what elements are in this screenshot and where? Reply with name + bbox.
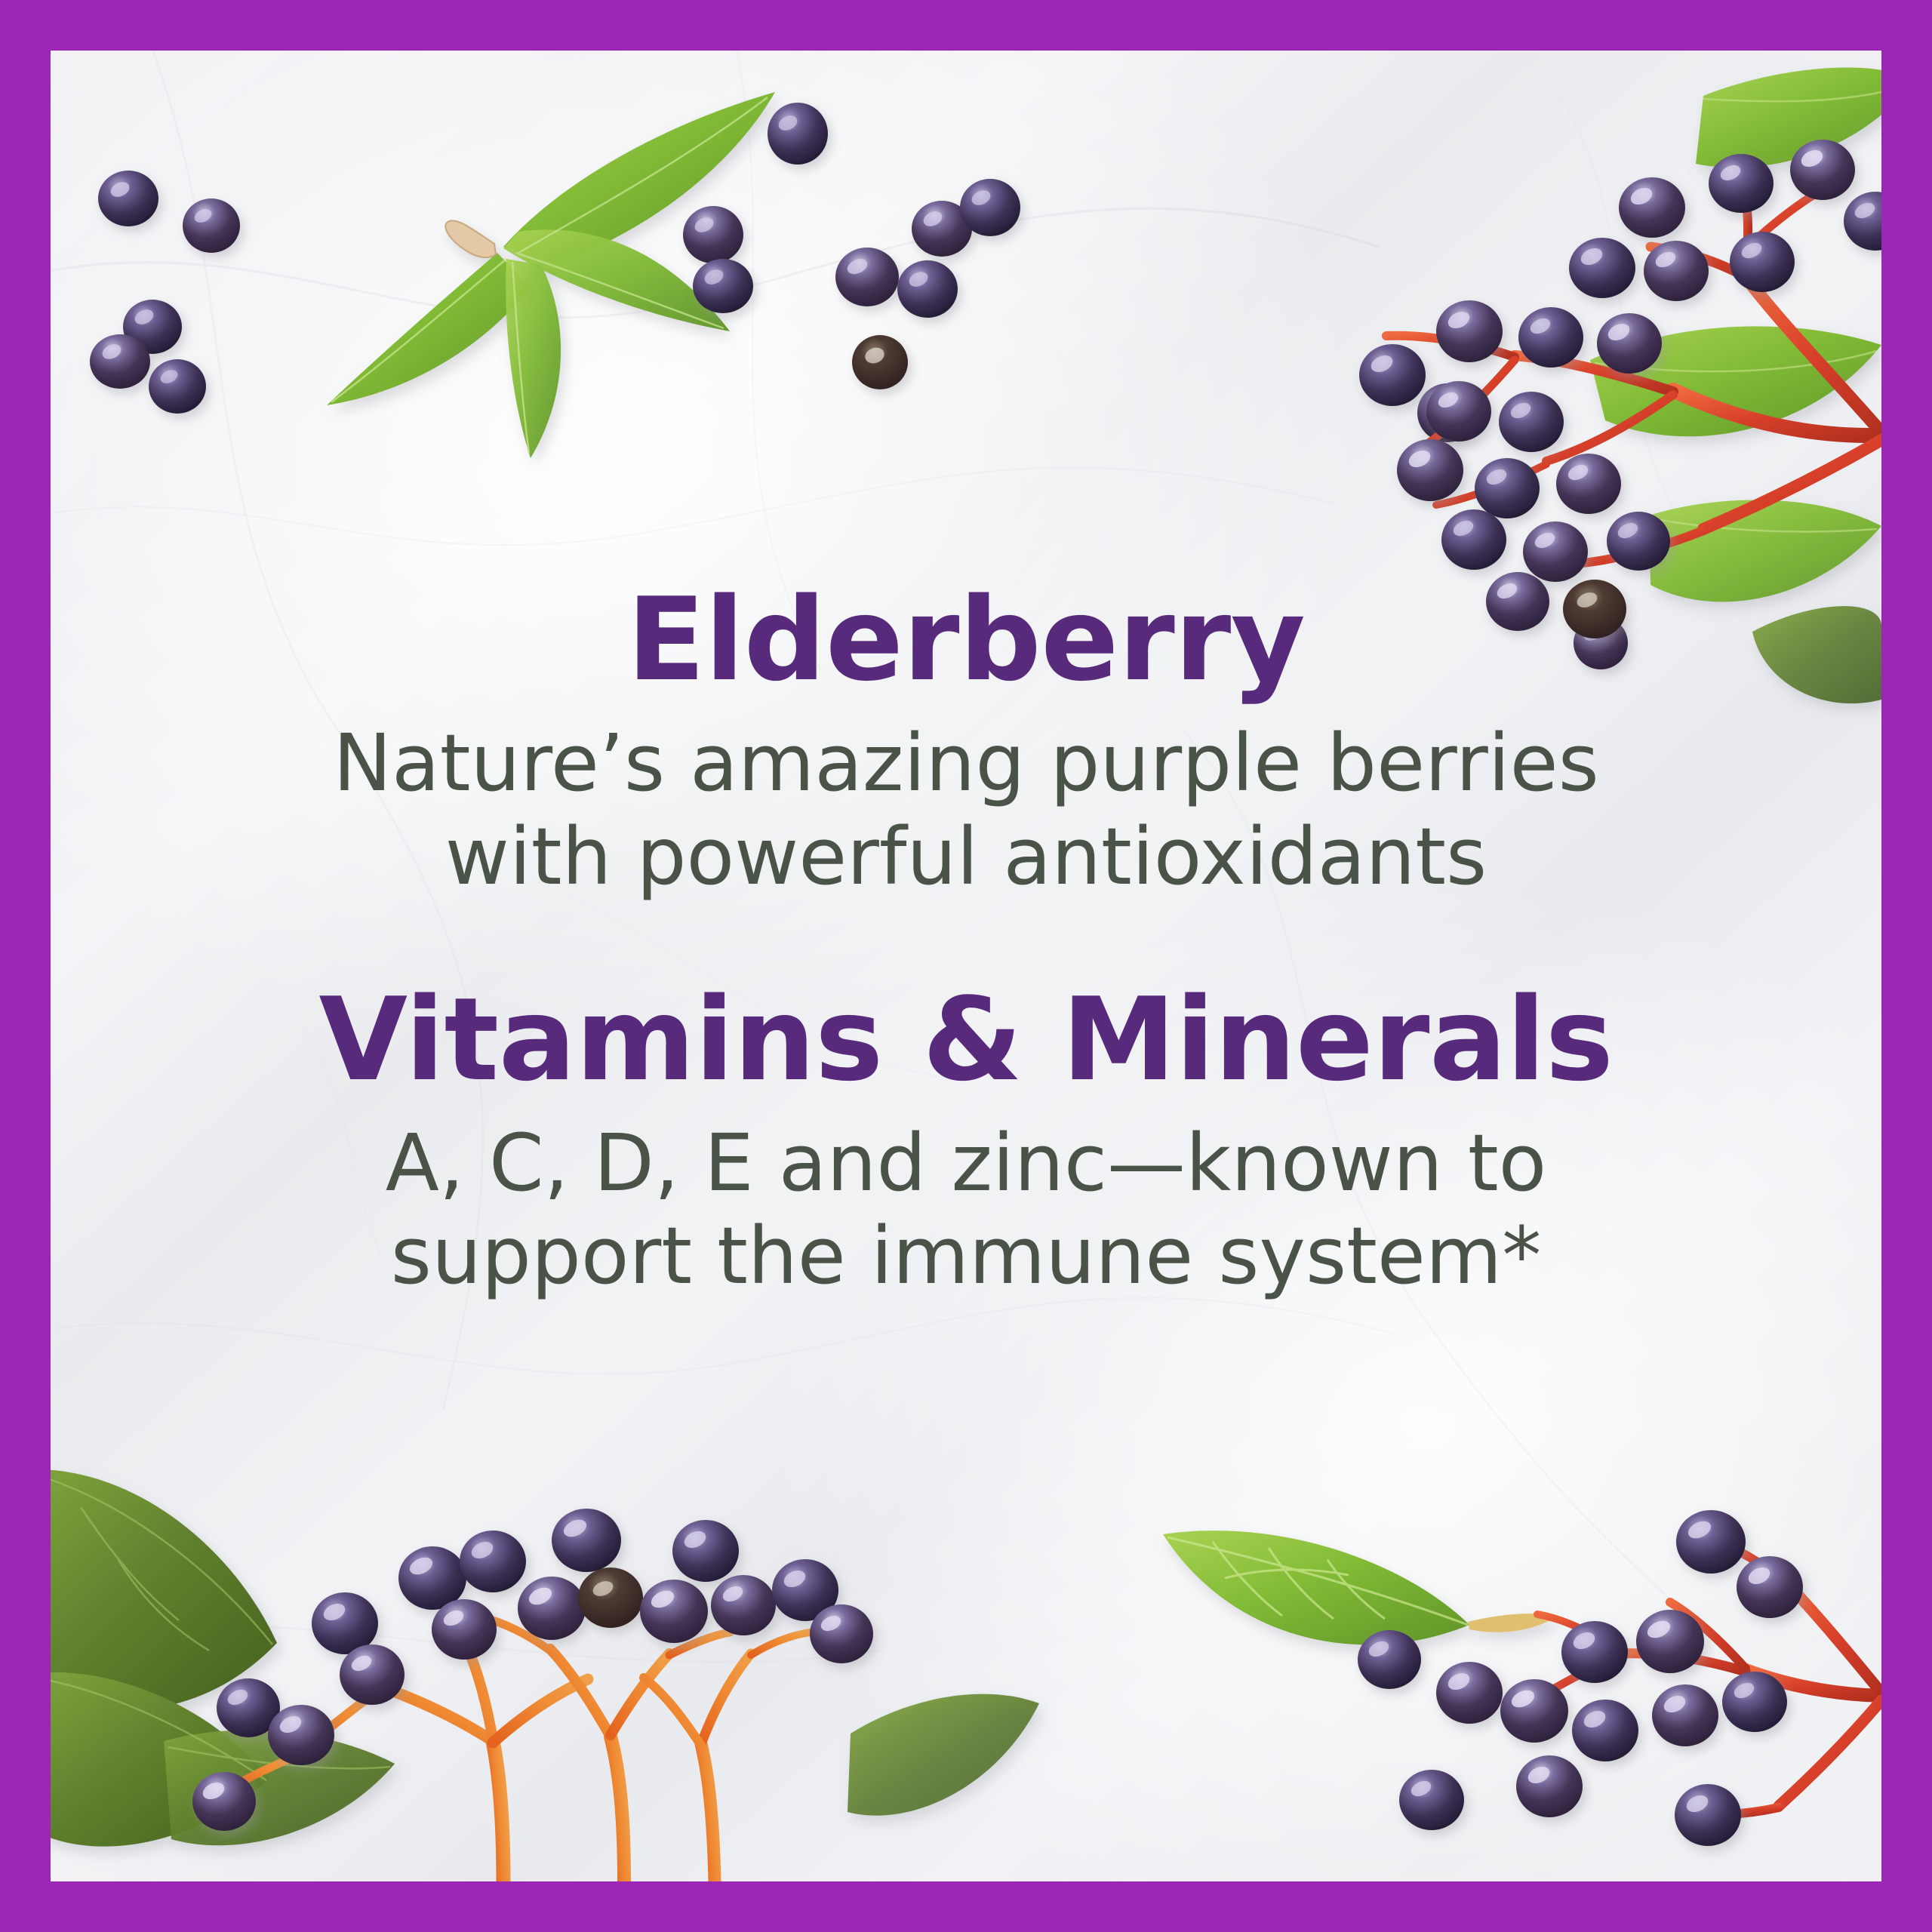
page-title-vitamins-minerals: Vitamins & Minerals [141, 983, 1791, 1097]
berry-icon [683, 103, 1020, 389]
elderberry-cluster-icon [1358, 1510, 1881, 1846]
berry-icon [90, 171, 240, 414]
elderberry-description: Nature’s amazing purple berries with pow… [141, 717, 1791, 904]
leaf-icon [1163, 1531, 1558, 1644]
leaf-cluster-icon [327, 92, 775, 458]
copy-block: Elderberry Nature’s amazing purple berri… [51, 583, 1881, 1303]
elderberry-cluster-icon [192, 1509, 1039, 1881]
page-title-elderberry: Elderberry [141, 583, 1791, 697]
leaf-icon [51, 1469, 395, 1847]
vitamins-description-line-1: A, C, D, E and zinc—known to [141, 1117, 1791, 1211]
section-spacer [141, 904, 1791, 974]
marble-background: Elderberry Nature’s amazing purple berri… [51, 51, 1881, 1881]
poster-frame: Elderberry Nature’s amazing purple berri… [0, 0, 1932, 1932]
vitamins-description-line-2: support the immune system* [141, 1210, 1791, 1303]
elderberry-description-line-2: with powerful antioxidants [141, 811, 1791, 904]
vitamins-description: A, C, D, E and zinc—known to support the… [141, 1117, 1791, 1304]
elderberry-description-line-1: Nature’s amazing purple berries [141, 717, 1791, 811]
